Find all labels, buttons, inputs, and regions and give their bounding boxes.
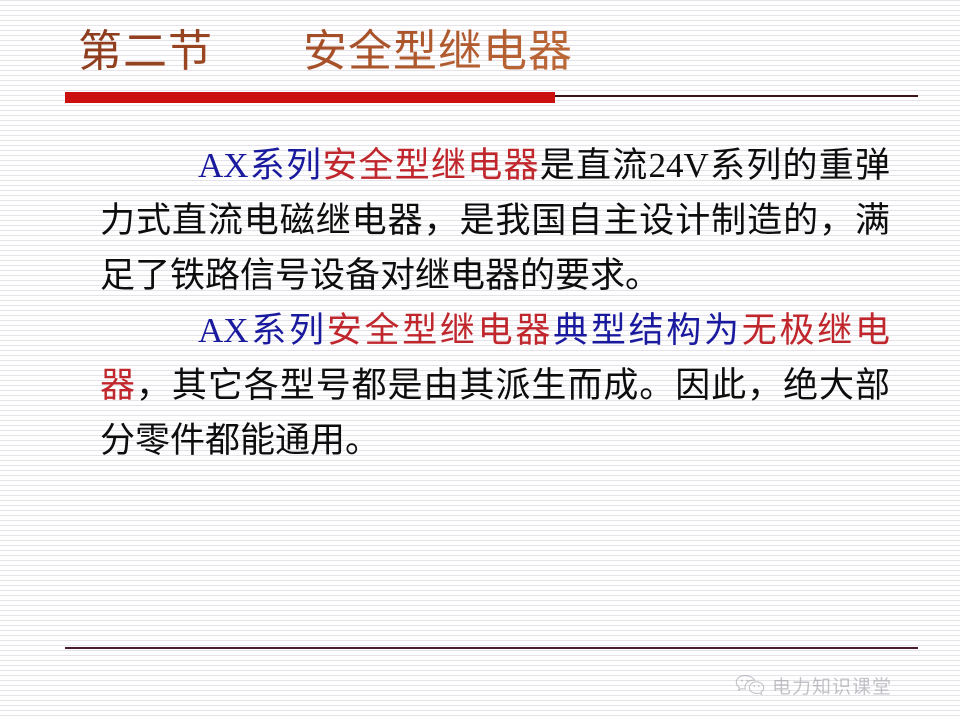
- slide-canvas: 第二节 安全型继电器 AX系列安全型继电器是直流24V系列的重弹力式直流电磁继电…: [0, 0, 960, 720]
- text-run-black: ，其它各型号都是由其派生而成。因此，绝大部分零件都能通用。: [100, 366, 890, 460]
- text-run-blue: 典型结构为: [553, 311, 742, 350]
- paragraph-1: AX系列安全型继电器是直流24V系列的重弹力式直流电磁继电器，是我国自主设计制造…: [100, 138, 890, 303]
- text-run-red: 安全型继电器: [322, 146, 539, 185]
- body-text-container: AX系列安全型继电器是直流24V系列的重弹力式直流电磁继电器，是我国自主设计制造…: [100, 138, 890, 468]
- watermark-label: 电力知识课堂: [772, 672, 892, 699]
- title-thin-rule: [555, 95, 918, 97]
- paragraph-2: AX系列安全型继电器典型结构为无极继电器，其它各型号都是由其派生而成。因此，绝大…: [100, 303, 890, 468]
- title-accent-bar: [65, 92, 555, 103]
- text-run-blue: AX系列: [198, 311, 327, 350]
- footer-divider: [65, 647, 918, 649]
- text-run-blue: AX系列: [198, 146, 322, 185]
- text-run-red: 安全型继电器: [327, 311, 553, 350]
- title-block: 第二节 安全型继电器: [78, 22, 898, 90]
- title-underline-rule: [65, 92, 918, 103]
- page-title: 第二节 安全型继电器: [78, 22, 898, 82]
- wechat-icon: [735, 674, 765, 698]
- watermark: 电力知识课堂: [735, 672, 892, 699]
